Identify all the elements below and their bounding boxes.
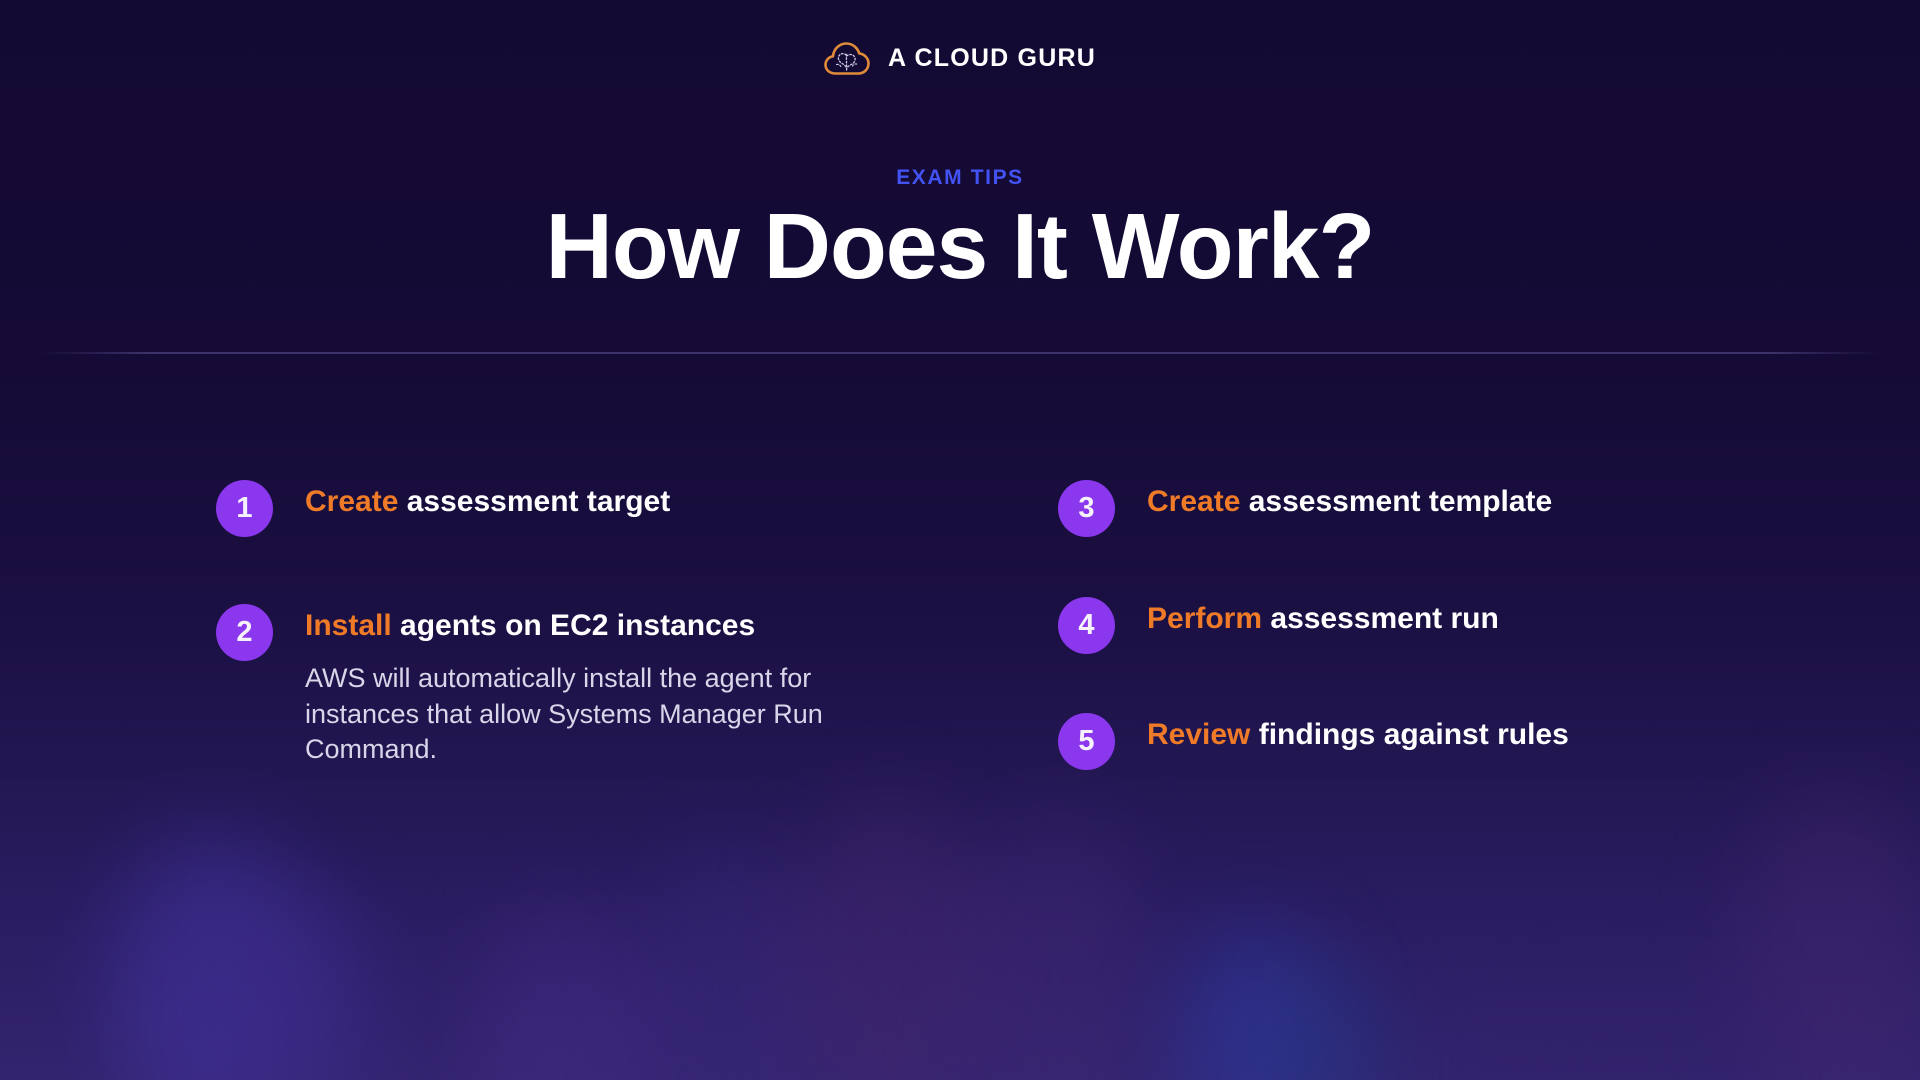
step-title-highlight: Create [1147,485,1240,518]
step-content: Perform assessment run [1147,601,1499,638]
step-title: Install agents on EC2 instances [305,608,856,645]
step-item-5: 5 Review findings against rules [1058,717,1569,770]
step-title-highlight: Create [305,485,398,518]
step-item-2: 2 Install agents on EC2 instances AWS wi… [216,608,856,768]
step-title-highlight: Review [1147,718,1250,751]
step-number-badge: 2 [216,604,273,661]
step-title-highlight: Perform [1147,602,1262,635]
step-title: Review findings against rules [1147,717,1569,754]
step-title-rest: agents on EC2 instances [392,609,755,642]
steps-section: 1 Create assessment target 2 Install age… [0,0,1920,1080]
step-title-highlight: Install [305,609,392,642]
step-title-rest: assessment target [398,485,670,518]
step-note: AWS will automatically install the agent… [305,661,856,769]
step-number-badge: 5 [1058,713,1115,770]
step-number-badge: 1 [216,480,273,537]
step-title: Create assessment template [1147,484,1552,521]
step-title-rest: findings against rules [1250,718,1568,751]
step-item-3: 3 Create assessment template [1058,484,1552,537]
step-content: Create assessment target [305,484,670,521]
step-content: Create assessment template [1147,484,1552,521]
step-item-4: 4 Perform assessment run [1058,601,1499,654]
step-content: Install agents on EC2 instances AWS will… [305,608,856,768]
step-number-badge: 3 [1058,480,1115,537]
step-content: Review findings against rules [1147,717,1569,754]
step-title-rest: assessment run [1262,602,1499,635]
step-title-rest: assessment template [1240,485,1552,518]
step-number-badge: 4 [1058,597,1115,654]
step-item-1: 1 Create assessment target [216,484,670,537]
step-title: Perform assessment run [1147,601,1499,638]
step-title: Create assessment target [305,484,670,521]
